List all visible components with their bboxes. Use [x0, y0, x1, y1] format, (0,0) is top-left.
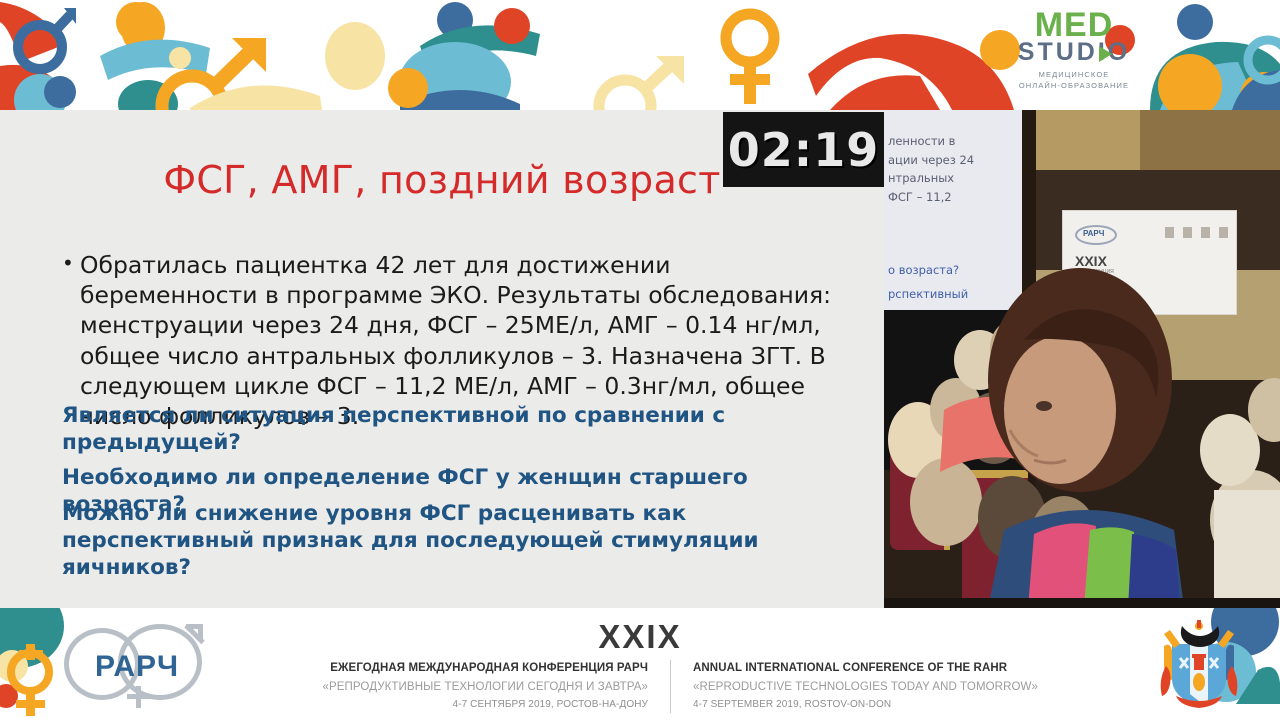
rarch-female-cross	[127, 694, 150, 699]
brand-studio-label: STUDIO	[1018, 38, 1130, 66]
brand-subtitle: МЕДИЦИНСКОЕ ОНЛАЙН-ОБРАЗОВАНИЕ	[986, 70, 1162, 92]
footer-ru-line1: ЕЖЕГОДНАЯ МЕЖДУНАРОДНАЯ КОНФЕРЕНЦИЯ РАРЧ	[273, 660, 648, 678]
brand-studio-text: STUDIO	[986, 40, 1162, 65]
brand-med-text: MED	[986, 8, 1162, 42]
rostov-oblast-coat-of-arms-icon	[1156, 620, 1242, 708]
male-symbol-icon	[599, 56, 684, 110]
footer-text-columns: ЕЖЕГОДНАЯ МЕЖДУНАРОДНАЯ КОНФЕРЕНЦИЯ РАРЧ…	[255, 660, 1085, 713]
footer-ru-line2: «РЕПРОДУКТИВНЫЕ ТЕХНОЛОГИИ СЕГОДНЯ И ЗАВ…	[273, 678, 648, 696]
footer-en-line2: «REPRODUCTIVE TECHNOLOGIES TODAY AND TOM…	[693, 678, 1067, 696]
brand-subtitle-line1: МЕДИЦИНСКОЕ	[986, 70, 1162, 81]
slide-question-1: Является ли ситуация перспективной по ср…	[62, 402, 842, 456]
play-triangle-icon	[1099, 46, 1112, 62]
medstudio-logo: MED STUDIO МЕДИЦИНСКОЕ ОНЛАЙН-ОБРАЗОВАНИ…	[986, 8, 1162, 92]
footer-en-line1: ANNUAL INTERNATIONAL CONFERENCE OF THE R…	[693, 660, 1067, 678]
header-banner: MED STUDIO МЕДИЦИНСКОЕ ОНЛАЙН-ОБРАЗОВАНИ…	[0, 0, 1280, 110]
video-audience-silhouettes	[884, 110, 1280, 608]
slide-question-3: Можно ли снижение уровня ФСГ расценивать…	[62, 500, 842, 581]
female-symbol-icon	[726, 14, 774, 104]
footer-ru-line3: 4-7 СЕНТЯБРЯ 2019, РОСТОВ-НА-ДОНУ	[273, 696, 648, 713]
countdown-timer: 02:19	[723, 112, 884, 187]
speaker-video-panel[interactable]: ленности в ации через 24 нтральных ФСГ –…	[884, 110, 1280, 608]
presentation-viewer: MED STUDIO МЕДИЦИНСКОЕ ОНЛАЙН-ОБРАЗОВАНИ…	[0, 0, 1280, 720]
brand-subtitle-line2: ОНЛАЙН-ОБРАЗОВАНИЕ	[986, 81, 1162, 92]
footer-en-line3: 4-7 SEPTEMBER 2019, ROSTOV-ON-DON	[693, 696, 1067, 713]
footer-column-en: ANNUAL INTERNATIONAL CONFERENCE OF THE R…	[670, 660, 1085, 713]
footer-banner: РАРЧ XXIX ЕЖЕГОДНАЯ МЕЖДУНАРОДНАЯ КОНФЕР…	[0, 608, 1280, 720]
timer-value: 02:19	[728, 123, 879, 177]
bullet-marker-icon: •	[62, 253, 74, 273]
conference-number: XXIX	[0, 618, 1280, 656]
footer-column-ru: ЕЖЕГОДНАЯ МЕЖДУНАРОДНАЯ КОНФЕРЕНЦИЯ РАРЧ…	[255, 660, 670, 713]
